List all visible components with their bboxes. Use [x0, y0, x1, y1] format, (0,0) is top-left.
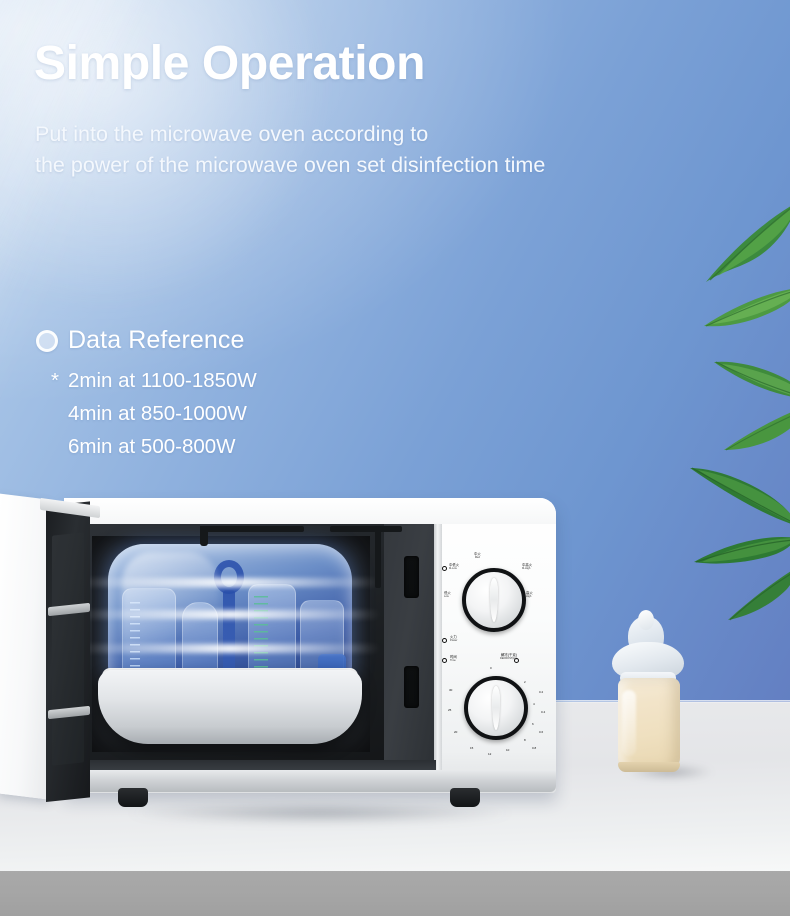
data-reference-title: Data Reference [68, 326, 245, 355]
bullet-marker [51, 430, 68, 463]
dial-pointer [492, 686, 500, 730]
data-reference-header: Data Reference [36, 326, 366, 355]
defrost-label: 解冻(千克) DEFROST(kg) [500, 654, 517, 661]
door-outer-face [0, 494, 52, 800]
timer-tick-4: 4 [533, 702, 535, 706]
sterilizer-center-stem [223, 590, 235, 676]
motion-streak [80, 644, 380, 653]
motion-streak [80, 610, 380, 619]
door-latch-slot-icon [404, 666, 419, 708]
microwave-foot [118, 788, 148, 807]
defrost-weight-08: 0.8 [532, 746, 536, 750]
bottle-scale-markings [254, 596, 268, 670]
list-item-text: 6min at 500-800W [68, 430, 236, 463]
power-label-low: 低火 Low [444, 592, 451, 599]
timer-tick-15: 15 [470, 746, 473, 750]
time-group-label: 时间 Time [450, 656, 457, 663]
bullet-marker [51, 397, 68, 430]
cavity-top-groove [330, 526, 402, 532]
list-item-text: 4min at 850-1000W [68, 397, 247, 430]
power-label-med: 中火 Med [474, 553, 481, 560]
bullet-marker: * [51, 364, 68, 397]
microwave-foot [450, 788, 480, 807]
timer-tick-12: 12 [488, 752, 491, 756]
data-reference-list: * 2min at 1100-1850W 4min at 850-1000W 6… [36, 364, 366, 464]
page-title: Simple Operation [34, 39, 425, 89]
timer-tick-20: 20 [454, 730, 457, 734]
motion-streak [80, 578, 380, 587]
control-panel[interactable]: 中火 Med 中低火 M-Low 中高火 M-High 低火 Low 高火 Hi… [440, 540, 556, 770]
power-marker-icon [442, 566, 447, 571]
dial-pointer [490, 578, 498, 622]
time-group-icon [442, 658, 447, 663]
cavity-top-groove [375, 526, 381, 588]
leaf-icon [726, 566, 790, 626]
timer-tick-0: 0 [490, 666, 492, 670]
timer-tick-8: 8 [524, 738, 526, 742]
leaf-icon [684, 452, 790, 532]
list-item: * 2min at 1100-1850W [51, 364, 366, 397]
microwave-top [64, 498, 556, 524]
door-latch-slot-icon [404, 556, 419, 598]
microwave-door[interactable] [0, 500, 96, 812]
timer-tick-30: 30 [449, 688, 452, 692]
cavity-top-groove [200, 526, 208, 546]
floor-strip [0, 871, 790, 916]
leaf-icon [712, 338, 790, 404]
power-label-mlow: 中低火 M-Low [449, 564, 459, 571]
power-group-label: 火力 Power [450, 636, 457, 643]
timer-dial[interactable] [464, 676, 528, 740]
timer-tick-6: 6 [532, 722, 534, 726]
list-item-text: 2min at 1100-1850W [68, 364, 257, 397]
power-label-high: 高火 High [526, 592, 533, 599]
microwave-oven: 中火 Med 中低火 M-Low 中高火 M-High 低火 Low 高火 Hi… [0, 492, 560, 808]
power-dial[interactable] [462, 568, 526, 632]
subtitle-line-1: Put into the microwave oven according to [35, 119, 735, 150]
power-group-icon [442, 638, 447, 643]
promo-image: 中火 Med 中低火 M-Low 中高火 M-High 低火 Low 高火 Hi… [0, 0, 790, 916]
subtitle-line-2: the power of the microwave oven set disi… [35, 150, 735, 181]
timer-tick-25: 25 [448, 708, 451, 712]
defrost-weight-02: 0.2 [539, 690, 543, 694]
timer-tick-10: 10 [506, 748, 509, 752]
subtitle: Put into the microwave oven according to… [35, 119, 735, 180]
list-item: 4min at 850-1000W [51, 397, 366, 430]
defrost-weight-04: 0.4 [541, 710, 545, 714]
door-inner-panel [52, 532, 84, 765]
ring-icon [36, 330, 58, 352]
sterilizer-handle [214, 560, 244, 594]
sterilizer-base [98, 670, 362, 744]
cavity-top-groove [206, 526, 304, 532]
power-label-mhigh: 中高火 M-High [522, 564, 532, 571]
baby-bottle [608, 616, 704, 786]
list-item: 6min at 500-800W [51, 430, 366, 463]
steam-sterilizer [96, 544, 364, 750]
data-reference-block: Data Reference * 2min at 1100-1850W 4min… [36, 326, 366, 464]
timer-tick-2: 2 [524, 680, 526, 684]
defrost-weight-06: 0.6 [539, 730, 543, 734]
